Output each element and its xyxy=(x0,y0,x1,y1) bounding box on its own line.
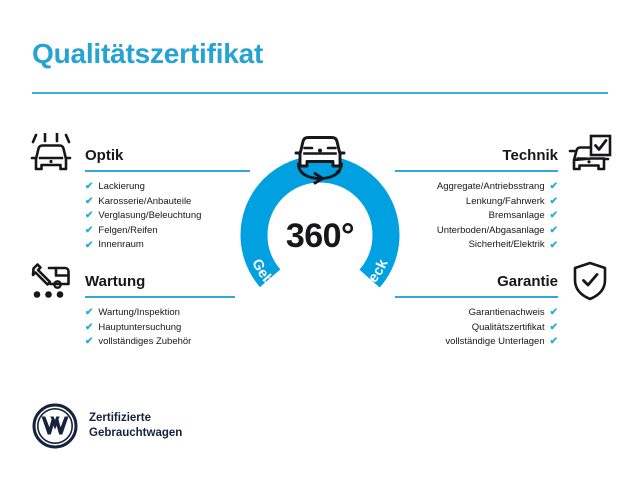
check-icon: ✔ xyxy=(85,182,93,192)
list-item-label: Felgen/Reifen xyxy=(98,224,157,239)
section-wartung-divider xyxy=(85,296,235,298)
check-icon: ✔ xyxy=(550,308,558,318)
title-divider xyxy=(32,92,608,94)
list-item-label: Lenkung/Fahrwerk xyxy=(466,195,545,210)
list-item-label: Verglasung/Beleuchtung xyxy=(98,209,201,224)
list-item-label: Hauptuntersuchung xyxy=(98,321,181,336)
list-item: ✔Lenkung/Fahrwerk xyxy=(395,195,558,210)
section-garantie-list: ✔Garantienachweis ✔Qualitätszertifikat ✔… xyxy=(395,306,558,350)
list-item-label: Garantienachweis xyxy=(469,306,545,321)
list-item: ✔Unterboden/Abgasanlage xyxy=(395,224,558,239)
list-item: ✔vollständige Unterlagen xyxy=(395,335,558,350)
list-item-label: Sicherheit/Elektrik xyxy=(469,238,545,253)
footer-brand-text: Zertifizierte Gebrauchtwagen xyxy=(89,411,182,441)
list-item-label: vollständiges Zubehör xyxy=(98,335,191,350)
list-item: ✔Hauptuntersuchung xyxy=(85,321,235,336)
list-item: ✔Qualitätszertifikat xyxy=(395,321,558,336)
car-checkbox-icon xyxy=(567,133,613,182)
section-technik: Technik ✔Aggregate/Antriebsstrang ✔Lenku… xyxy=(395,146,558,253)
volkswagen-logo xyxy=(32,403,78,449)
check-icon: ✔ xyxy=(550,241,558,251)
list-item: ✔vollständiges Zubehör xyxy=(85,335,235,350)
section-wartung: Wartung ✔Wartung/Inspektion ✔Hauptunters… xyxy=(85,272,235,350)
list-item-label: Innenraum xyxy=(98,238,143,253)
check-icon: ✔ xyxy=(550,226,558,236)
list-item: ✔Wartung/Inspektion xyxy=(85,306,235,321)
section-garantie: Garantie ✔Garantienachweis ✔Qualitätszer… xyxy=(395,272,558,350)
section-technik-title: Technik xyxy=(395,146,558,166)
section-technik-header: Technik xyxy=(395,146,558,172)
check-icon: ✔ xyxy=(85,197,93,207)
list-item-label: vollständige Unterlagen xyxy=(445,335,544,350)
list-item-label: Unterboden/Abgasanlage xyxy=(437,224,545,239)
shield-check-icon xyxy=(570,260,610,307)
section-wartung-header: Wartung xyxy=(85,272,235,298)
footer-brand: Zertifizierte Gebrauchtwagen xyxy=(32,403,182,449)
list-item: ✔Sicherheit/Elektrik xyxy=(395,238,558,253)
list-item-label: Karosserie/Anbauteile xyxy=(98,195,191,210)
footer-line-1: Zertifizierte xyxy=(89,411,182,426)
list-item: ✔Aggregate/Antriebsstrang xyxy=(395,180,558,195)
check-icon: ✔ xyxy=(85,308,93,318)
list-item: ✔Garantienachweis xyxy=(395,306,558,321)
section-garantie-divider xyxy=(395,296,558,298)
check-icon: ✔ xyxy=(550,211,558,221)
check-icon: ✔ xyxy=(550,323,558,333)
car-shine-icon xyxy=(27,133,75,182)
list-item: ✔Bremsanlage xyxy=(395,209,558,224)
section-wartung-title: Wartung xyxy=(85,272,235,292)
section-wartung-list: ✔Wartung/Inspektion ✔Hauptuntersuchung ✔… xyxy=(85,306,235,350)
page-title: Qualitätszertifikat xyxy=(32,38,263,70)
section-technik-list: ✔Aggregate/Antriebsstrang ✔Lenkung/Fahrw… xyxy=(395,180,558,253)
section-technik-divider xyxy=(395,170,558,172)
list-item-label: Qualitätszertifikat xyxy=(472,321,545,336)
list-item-label: Lackierung xyxy=(98,180,144,195)
list-item-label: Wartung/Inspektion xyxy=(98,306,180,321)
list-item-label: Bremsanlage xyxy=(489,209,545,224)
check-icon: ✔ xyxy=(550,197,558,207)
quality-certificate-page: Qualitätszertifikat xyxy=(0,0,640,480)
check-icon: ✔ xyxy=(550,337,558,347)
list-item-label: Aggregate/Antriebsstrang xyxy=(437,180,545,195)
footer-line-2: Gebrauchtwagen xyxy=(89,426,182,441)
section-garantie-header: Garantie xyxy=(395,272,558,298)
check-icon: ✔ xyxy=(85,323,93,333)
section-garantie-title: Garantie xyxy=(395,272,558,292)
check-icon: ✔ xyxy=(550,182,558,192)
check-icon: ✔ xyxy=(85,211,93,221)
check-icon: ✔ xyxy=(85,226,93,236)
360-gebrauchtwagen-check-badge: Gebrauchtwagen-Check 360° xyxy=(226,155,414,315)
car-rotate-icon xyxy=(286,123,354,190)
car-wrench-icon xyxy=(27,259,75,308)
check-icon: ✔ xyxy=(85,337,93,347)
check-icon: ✔ xyxy=(85,241,93,251)
badge-360-label: 360° xyxy=(226,217,414,256)
